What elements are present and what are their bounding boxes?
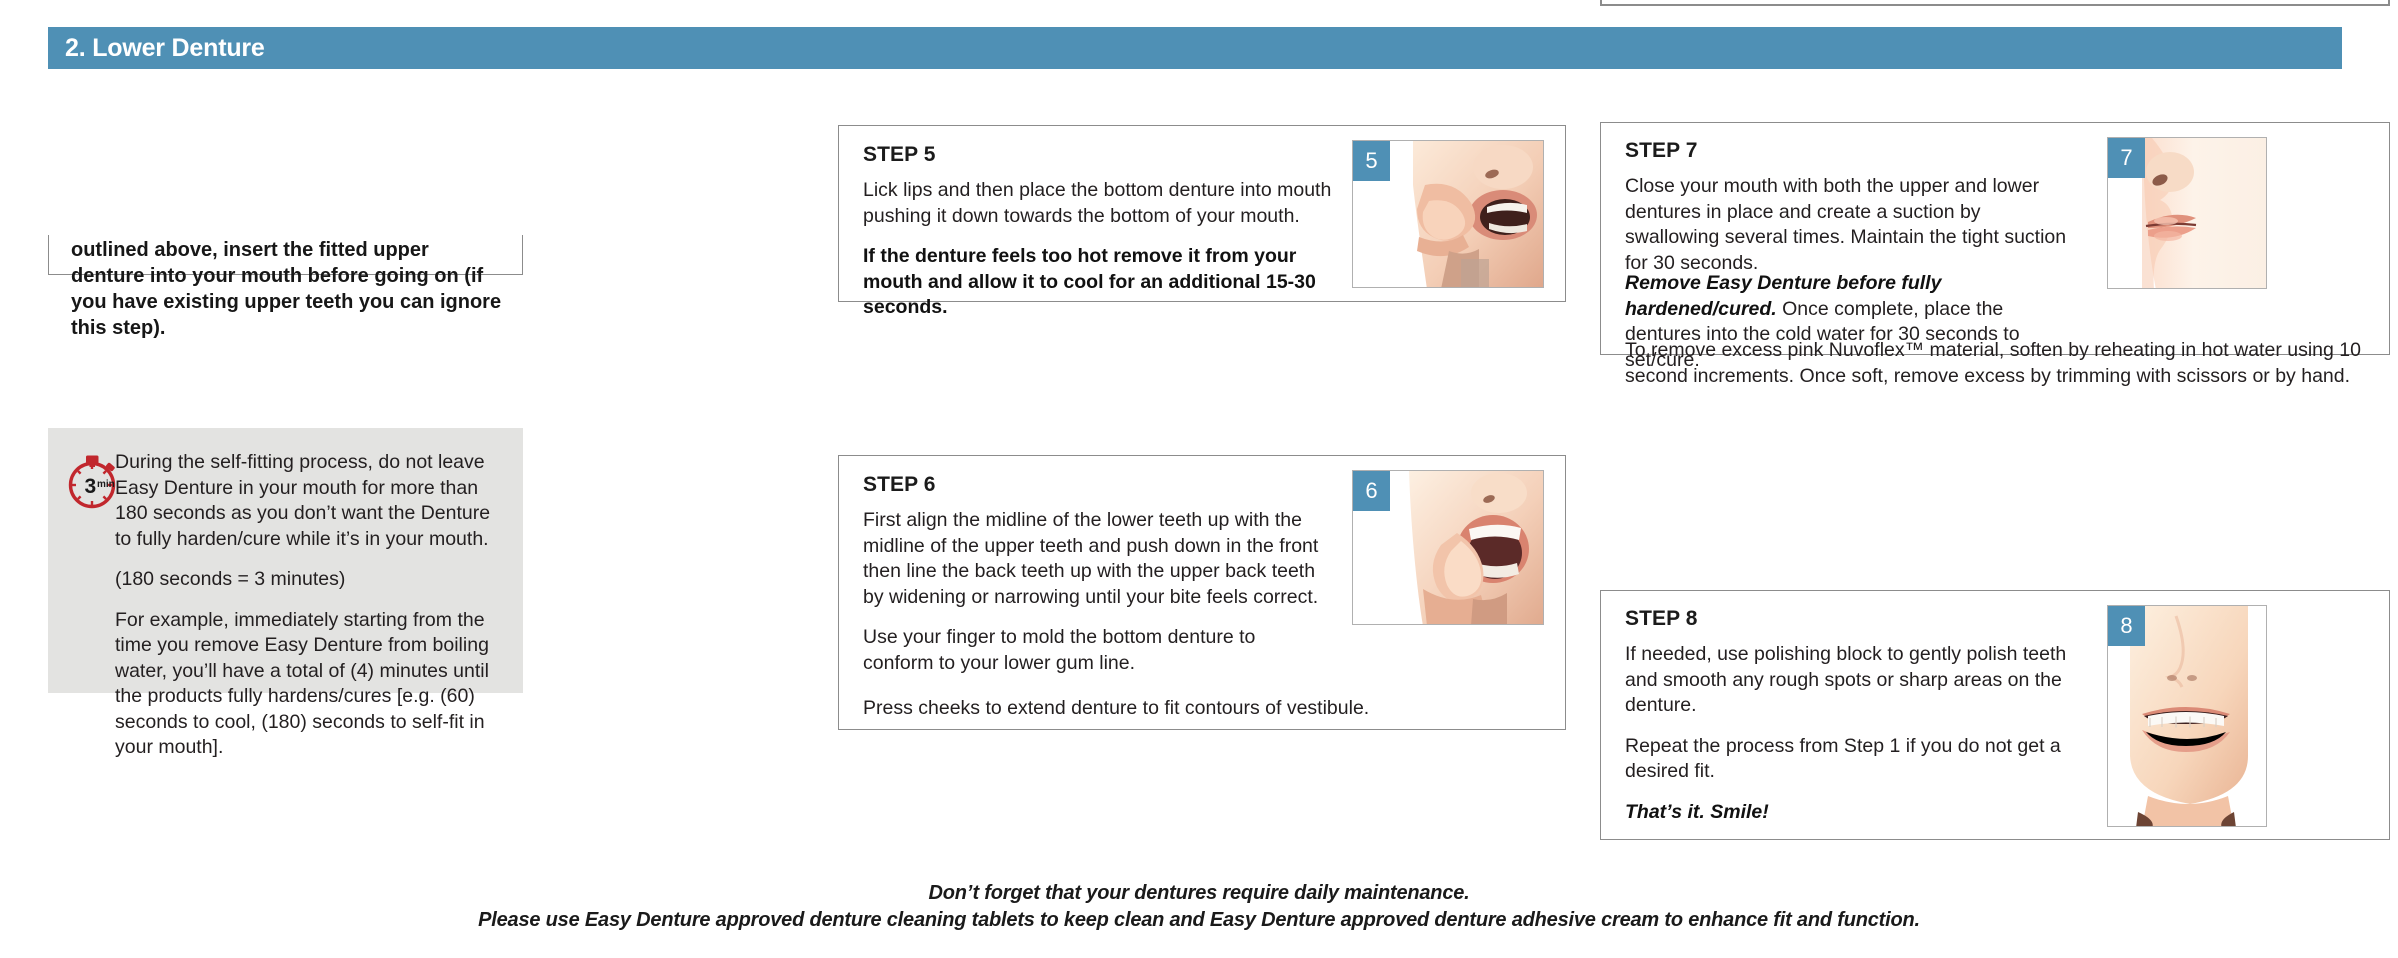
footer-line-2: Please use Easy Denture approved denture… [0, 907, 2398, 934]
step-5-paragraph-1: Lick lips and then place the bottom dent… [863, 178, 1333, 229]
step-6-photo: 6 [1352, 470, 1544, 625]
step-7-badge: 7 [2108, 138, 2145, 178]
step-8-badge: 8 [2108, 606, 2145, 646]
step-7-photo: 7 [2107, 137, 2267, 289]
stopwatch-icon: 3 min [62, 448, 122, 512]
step-card-5: STEP 5 Lick lips and then place the bott… [838, 125, 1566, 302]
step-card-7: STEP 7 Close your mouth with both the up… [1600, 122, 2390, 355]
step-8-photo: 8 [2107, 605, 2267, 827]
step-card-6: STEP 6 First align the midline of the lo… [838, 455, 1566, 730]
timer-note-panel: 3 min During the self-fitting process, d… [48, 428, 523, 693]
step-8-paragraph-3: That’s it. Smile! [1625, 800, 2075, 826]
step-8-paragraph-1: If needed, use polishing block to gently… [1625, 642, 2075, 719]
step-7-paragraph-3: To remove excess pink Nuvoflex™ material… [1625, 338, 2365, 389]
step-5-title: STEP 5 [863, 143, 1333, 167]
step-5-paragraph-2: If the denture feels too hot remove it f… [863, 244, 1333, 321]
step-6-paragraph-2: Use your finger to mold the bottom dentu… [863, 625, 1323, 676]
step-5-badge: 5 [1353, 141, 1390, 181]
svg-text:min: min [97, 479, 115, 490]
section-title: 2. Lower Denture [48, 34, 265, 63]
svg-text:3: 3 [85, 475, 97, 498]
step-6-badge: 6 [1353, 471, 1390, 511]
timer-note-paragraph-1: During the self-fitting process, do not … [115, 450, 505, 552]
footer-maintenance-note: Don’t forget that your dentures require … [0, 880, 2398, 934]
step-7-title: STEP 7 [1625, 139, 2075, 163]
lower-denture-instruction-page: 2. Lower Denture Perform STEPS 1, 2, 3 a… [0, 0, 2398, 958]
timer-note-paragraph-3: For example, immediately starting from t… [115, 608, 505, 761]
footer-line-1: Don’t forget that your dentures require … [0, 880, 2398, 907]
step-6-title: STEP 6 [863, 473, 1323, 497]
intro-panel-shadow [48, 125, 523, 235]
step-6-paragraph-3: Press cheeks to extend denture to fit co… [863, 696, 1553, 722]
step-card-8: STEP 8 If needed, use polishing block to… [1600, 590, 2390, 840]
previous-section-panel-edge [1600, 0, 2390, 6]
section-header-lower-denture: 2. Lower Denture [48, 27, 2342, 69]
timer-note-paragraph-2: (180 seconds = 3 minutes) [115, 567, 505, 593]
step-8-title: STEP 8 [1625, 607, 2075, 631]
step-5-photo: 5 [1352, 140, 1544, 288]
step-7-paragraph-1: Close your mouth with both the upper and… [1625, 174, 2075, 276]
step-6-paragraph-1: First align the midline of the lower tee… [863, 508, 1323, 610]
step-8-paragraph-2: Repeat the process from Step 1 if you do… [1625, 734, 2075, 785]
